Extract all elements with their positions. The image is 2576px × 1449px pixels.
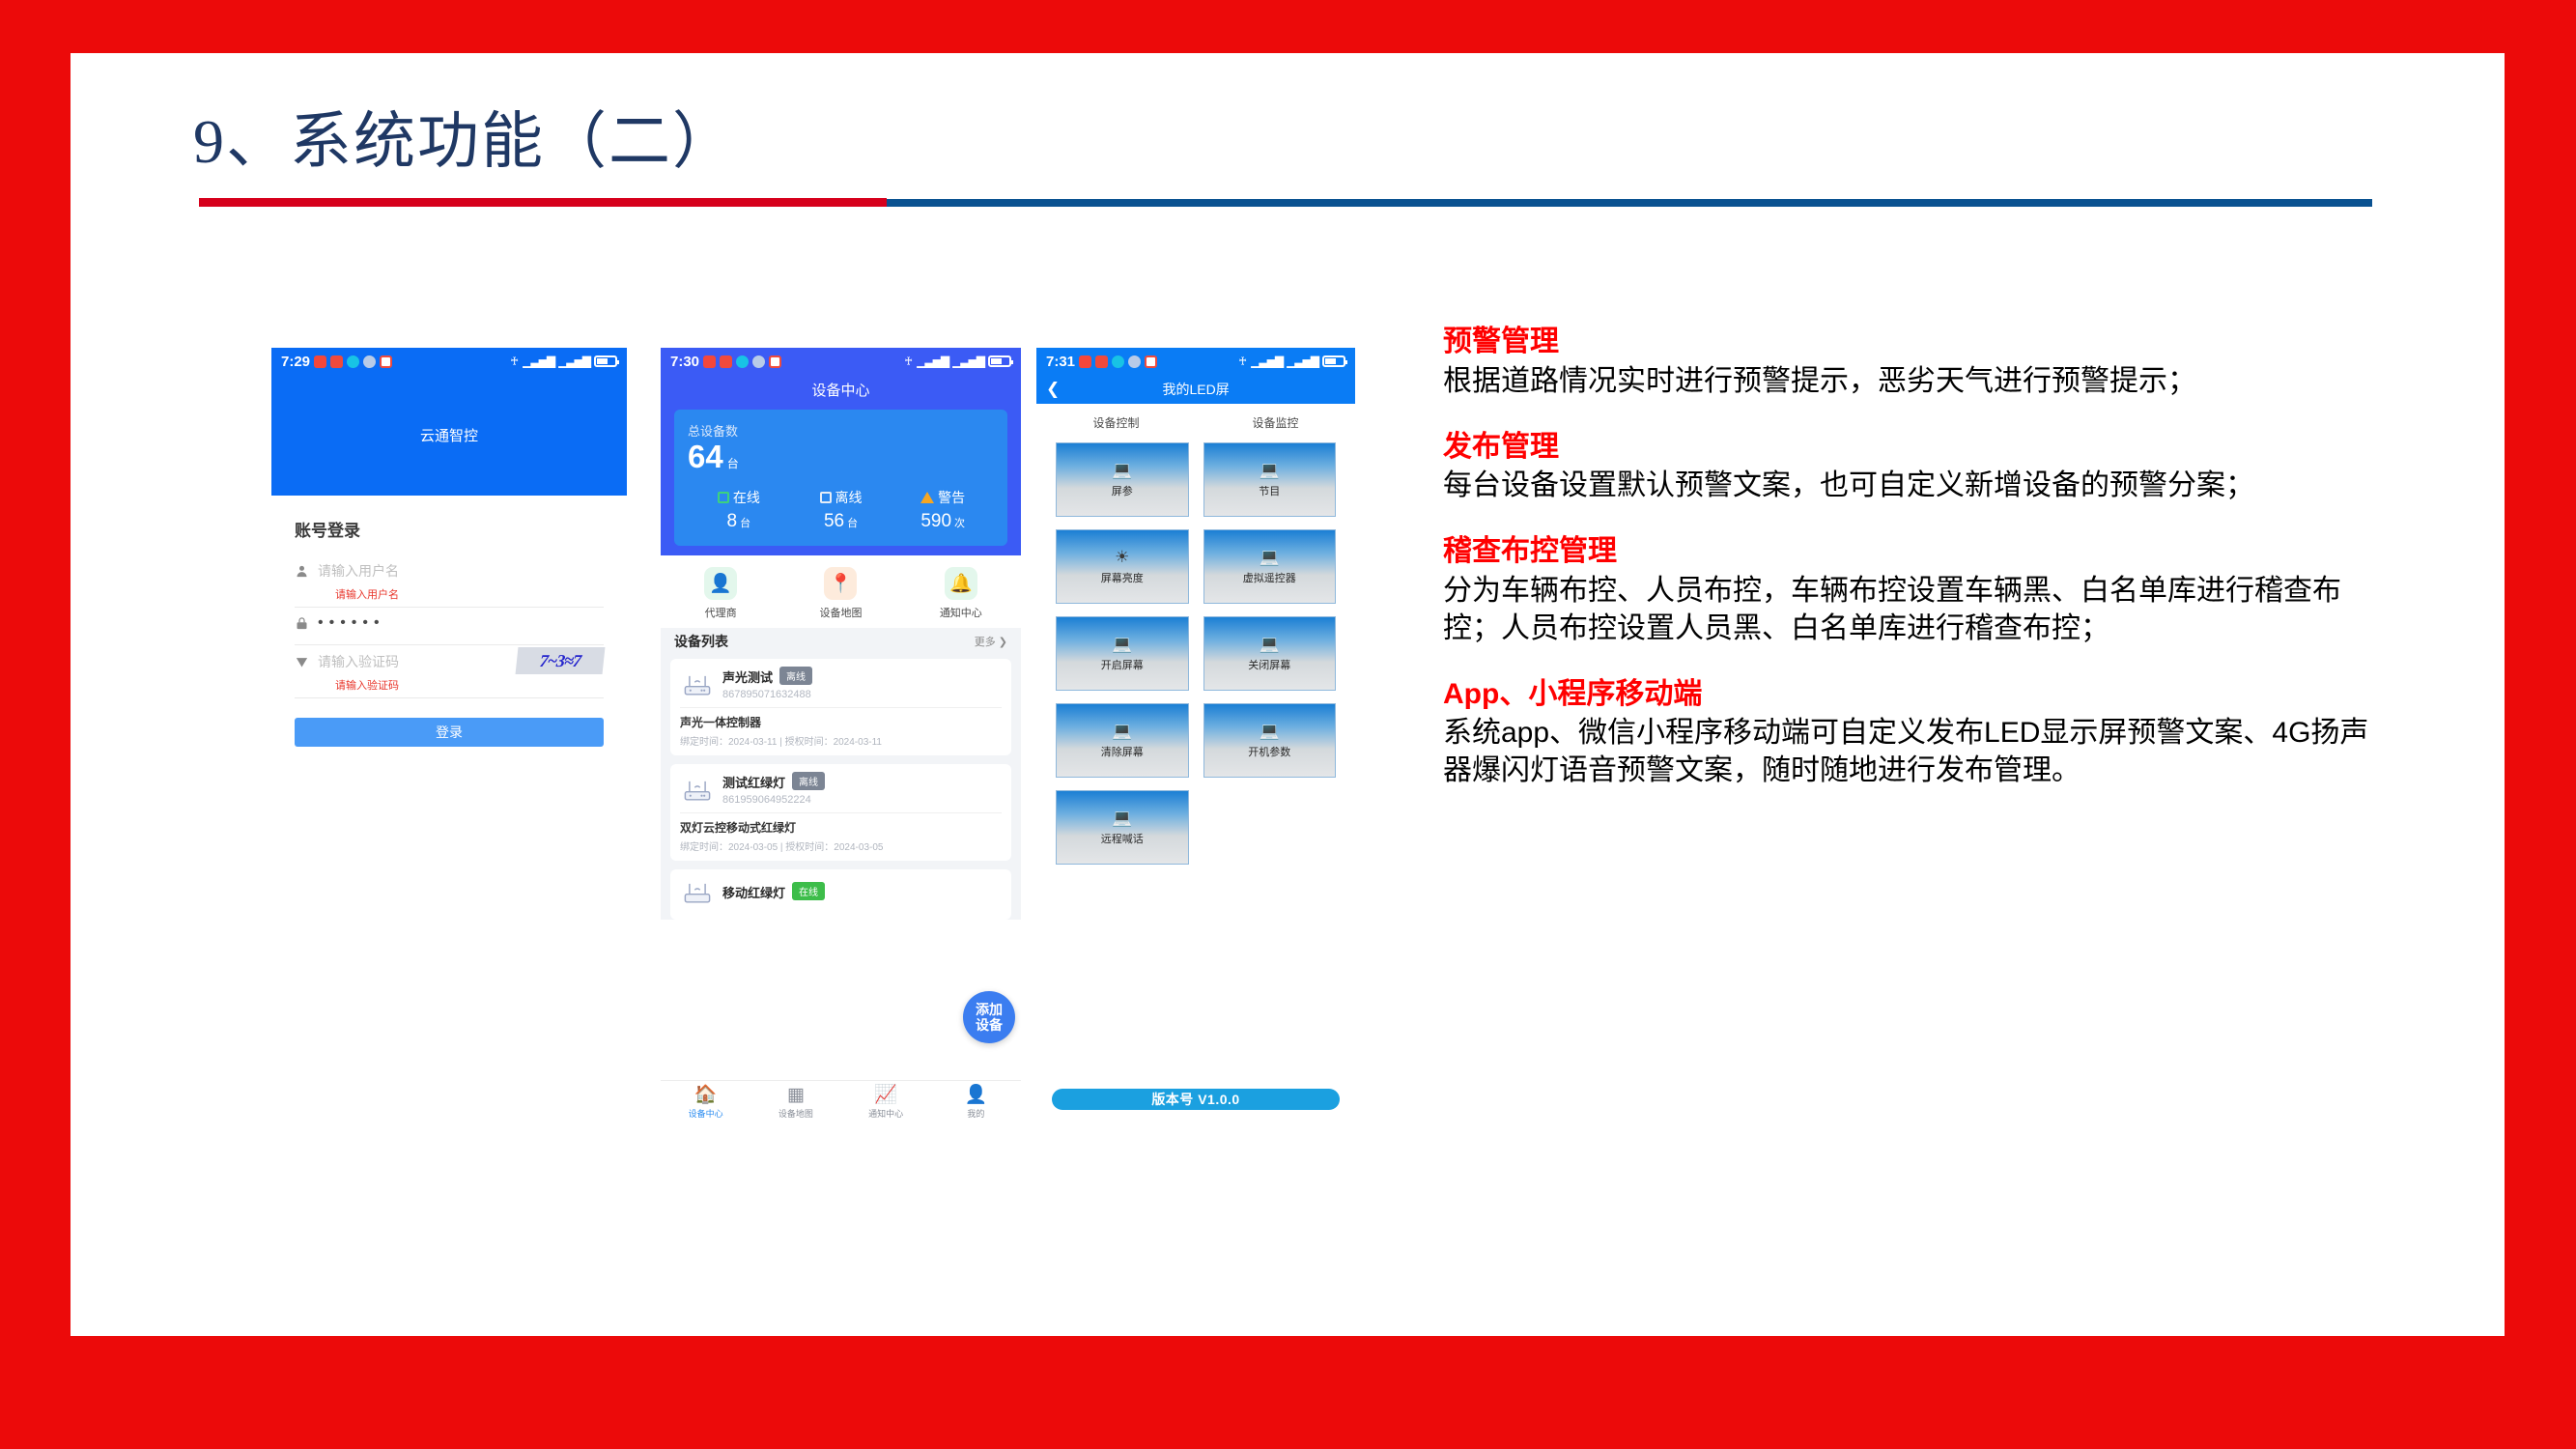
quick-map[interactable]: 📍 设备地图 [780, 567, 900, 620]
monitor-icon: 💻 [1260, 636, 1280, 652]
title-underline-red [199, 198, 887, 207]
tab-label: 我的 [931, 1107, 1021, 1120]
device-id: 861959064952224 [722, 794, 825, 806]
tab-label: 设备地图 [750, 1107, 840, 1120]
stat-label: 离线 [835, 488, 863, 507]
stat-value: 8 [727, 511, 738, 531]
status-badge: 在线 [792, 882, 825, 900]
content-block-warning-management: 预警管理 根据道路情况实时进行预警提示，恶劣天气进行预警提示； [1443, 324, 2380, 400]
nfc-icon: ♰ [1238, 355, 1247, 368]
x-square-icon [820, 492, 832, 503]
map-grid-icon: ▦ [750, 1086, 840, 1104]
router-icon [680, 775, 715, 804]
warning-triangle-icon [920, 492, 934, 503]
quick-notify[interactable]: 🔔 通知中心 [901, 567, 1021, 620]
brand-hero: 云通智控 [271, 375, 627, 496]
fab-line-1: 添加 [976, 1002, 1003, 1017]
status-bar-3: 7:31 ♰ ▁▃▅▇ ▁▃▅▇ [1036, 348, 1355, 375]
device-model: 声光一体控制器 [680, 714, 1002, 730]
login-heading: 账号登录 [295, 517, 604, 541]
tab-device-map[interactable]: ▦ 设备地图 [750, 1086, 840, 1120]
status-bar: 7:29 ♰ ▁▃▅▇ ▁▃▅▇ [271, 348, 627, 375]
status-time: 7:29 [281, 354, 310, 370]
content-column: 预警管理 根据道路情况实时进行预警提示，恶劣天气进行预警提示； 发布管理 每台设… [1443, 324, 2380, 818]
home-icon: 🏠 [661, 1086, 750, 1104]
tile-screen-on[interactable]: 💻 开启屏幕 [1056, 616, 1189, 691]
stat-value: 590 [920, 511, 951, 531]
block-body: 系统app、微信小程序移动端可自定义发布LED显示屏预警文案、4G扬声器爆闪灯语… [1443, 714, 2380, 789]
tile-clear-screen[interactable]: 💻 清除屏幕 [1056, 703, 1189, 778]
stat-value: 56 [824, 511, 844, 531]
app-icon-2 [752, 355, 765, 368]
screen-title: 设备中心 [661, 375, 1021, 410]
device-meta: 绑定时间：2024-03-05 | 授权时间：2024-03-05 [680, 838, 1002, 853]
signal-icon: ▁▃▅▇ [1251, 355, 1283, 368]
bottom-tab-bar: 🏠 设备中心 ▦ 设备地图 📈 通知中心 👤 我的 [661, 1080, 1021, 1124]
total-devices-unit: 台 [727, 457, 739, 470]
app-icon-2 [363, 355, 376, 368]
monitor-icon: 💻 [1260, 462, 1280, 478]
stat-unit: 台 [847, 518, 858, 529]
device-model: 双灯云控移动式红绿灯 [680, 819, 1002, 836]
router-icon [680, 669, 715, 698]
person-icon [295, 564, 309, 579]
password-value: •••••• [318, 614, 385, 632]
device-name: 移动红绿灯 [722, 886, 785, 900]
app-icon-2 [1128, 355, 1141, 368]
battery-icon [1322, 355, 1345, 367]
tile-screen-off[interactable]: 💻 关闭屏幕 [1203, 616, 1337, 691]
tab-profile[interactable]: 👤 我的 [931, 1086, 1021, 1120]
fab-line-2: 设备 [976, 1017, 1003, 1033]
block-heading: App、小程序移动端 [1443, 676, 2380, 713]
device-row[interactable]: 声光测试离线 867895071632488 声光一体控制器 绑定时间：2024… [670, 659, 1011, 755]
monitor-icon: 💻 [1112, 462, 1132, 478]
message-icon [1095, 355, 1108, 368]
nfc-icon: ♰ [510, 355, 519, 368]
user-icon: 👤 [931, 1086, 1021, 1104]
tile-label: 关闭屏幕 [1248, 657, 1290, 672]
device-name: 测试红绿灯 [722, 776, 785, 790]
notification-icon [314, 355, 326, 368]
device-list-title: 设备列表 [674, 632, 728, 651]
status-time: 7:31 [1046, 354, 1075, 370]
captcha-image[interactable]: 7~3≈7 [516, 647, 606, 674]
tile-label: 屏参 [1112, 483, 1133, 498]
monitor-icon: 💻 [1112, 810, 1132, 826]
signal-icon: ▁▃▅▇ [523, 355, 554, 368]
notification-icon [703, 355, 716, 368]
chart-bell-icon: 📈 [841, 1086, 931, 1104]
device-meta: 绑定时间：2024-03-11 | 授权时间：2024-03-11 [680, 733, 1002, 748]
monitor-icon: 💻 [1112, 636, 1132, 652]
battery-icon [594, 355, 617, 367]
username-placeholder: 请输入用户名 [318, 561, 399, 581]
tile-boot-params[interactable]: 💻 开机参数 [1203, 703, 1337, 778]
captcha-field[interactable]: 请输入验证码 7~3≈7 [295, 645, 604, 675]
tab-label: 通知中心 [841, 1107, 931, 1120]
signal-icon-2: ▁▃▅▇ [952, 355, 984, 368]
message-icon [330, 355, 343, 368]
status-badge: 离线 [779, 667, 812, 685]
device-row[interactable]: 测试红绿灯离线 861959064952224 双灯云控移动式红绿灯 绑定时间：… [670, 764, 1011, 861]
device-list-more[interactable]: 更多 ❯ [975, 634, 1007, 649]
nfc-icon: ♰ [904, 355, 913, 368]
tab-notification-center[interactable]: 📈 通知中心 [841, 1086, 931, 1120]
phone-mockup-login: 7:29 ♰ ▁▃▅▇ ▁▃▅▇ 云通智控 账号登录 请输入用户名 请输入用户名 [271, 348, 627, 808]
app-icon-3 [769, 355, 781, 368]
page-title: 9、系统功能（二） [193, 92, 736, 181]
device-row[interactable]: 移动红绿灯在线 [670, 869, 1011, 920]
divider-3 [295, 697, 604, 698]
stat-label: 警告 [938, 488, 965, 507]
phone-mockup-device-center: 7:30 ♰ ▁▃▅▇ ▁▃▅▇ 设备中心 总设备数 64台 在线 [661, 348, 1021, 1124]
tile-label: 清除屏幕 [1101, 744, 1144, 759]
stat-warning[interactable]: 警告 590次 [892, 488, 994, 532]
username-field[interactable]: 请输入用户名 [295, 554, 604, 584]
shield-icon [295, 655, 309, 669]
lock-icon [295, 616, 309, 631]
block-heading: 预警管理 [1443, 324, 2380, 360]
signal-icon: ▁▃▅▇ [917, 355, 948, 368]
password-field[interactable]: •••••• [295, 608, 604, 636]
stat-unit: 次 [954, 518, 965, 529]
app-icon-3 [1145, 355, 1157, 368]
notification-icon [1079, 355, 1091, 368]
map-pin-icon: 📍 [824, 567, 857, 600]
signal-icon-2: ▁▃▅▇ [1287, 355, 1318, 368]
signal-icon-2: ▁▃▅▇ [558, 355, 590, 368]
quick-label: 设备地图 [780, 605, 900, 620]
monitor-icon: 💻 [1260, 723, 1280, 739]
stat-unit: 台 [740, 518, 750, 529]
content-block-publish-management: 发布管理 每台设备设置默认预警文案，也可自定义新增设备的预警分案； [1443, 429, 2380, 505]
tile-screen-params[interactable]: 💻 屏参 [1056, 442, 1189, 517]
quick-agent[interactable]: 👤 代理商 [661, 567, 780, 620]
device-summary-card: 总设备数 64台 在线 8台 离线 56台 警告 590次 [674, 410, 1007, 546]
captcha-placeholder: 请输入验证码 [318, 652, 399, 671]
brand-name: 云通智控 [420, 425, 478, 445]
stat-offline[interactable]: 离线 56台 [790, 488, 892, 532]
device-list: 声光测试离线 867895071632488 声光一体控制器 绑定时间：2024… [661, 659, 1021, 920]
username-error: 请输入用户名 [295, 584, 604, 607]
app-icon [347, 355, 359, 368]
app-icon-3 [380, 355, 392, 368]
battery-icon [988, 355, 1011, 367]
message-icon [720, 355, 732, 368]
column-headers: 设备控制 设备监控 [1036, 404, 1355, 442]
monitor-icon: 💻 [1260, 549, 1280, 565]
tile-remote-shout[interactable]: 💻 远程喊话 [1056, 790, 1189, 865]
block-body: 根据道路情况实时进行预警提示，恶劣天气进行预警提示； [1443, 362, 2380, 400]
stat-label: 在线 [733, 488, 760, 507]
title-underline-blue [887, 199, 2372, 207]
status-time: 7:30 [670, 354, 699, 370]
bell-icon: 🔔 [945, 567, 977, 600]
nav-bar: ❮ 我的LED屏 [1036, 375, 1355, 404]
tile-label: 开启屏幕 [1101, 657, 1144, 672]
block-body: 每台设备设置默认预警文案，也可自定义新增设备的预警分案； [1443, 467, 2380, 504]
captcha-error: 请输入验证码 [295, 675, 604, 697]
summary-label: 总设备数 [688, 421, 994, 440]
brightness-icon: ☀ [1115, 549, 1129, 565]
tile-label: 屏幕亮度 [1101, 570, 1144, 585]
block-heading: 稽查布控管理 [1443, 533, 2380, 570]
device-list-header: 设备列表 更多 ❯ [661, 628, 1021, 659]
status-bar-2: 7:30 ♰ ▁▃▅▇ ▁▃▅▇ [661, 348, 1021, 375]
tile-label: 开机参数 [1248, 744, 1290, 759]
app-icon [736, 355, 749, 368]
status-badge: 离线 [792, 772, 825, 790]
login-button[interactable]: 登录 [295, 718, 604, 747]
quick-label: 通知中心 [901, 605, 1021, 620]
phone-mockup-led-screen: 7:31 ♰ ▁▃▅▇ ▁▃▅▇ ❮ 我的LED屏 设备控制 设备监控 💻 屏参… [1036, 348, 1355, 1125]
monitor-icon: 💻 [1112, 723, 1132, 739]
stat-online[interactable]: 在线 8台 [688, 488, 790, 532]
screen-title: 我的LED屏 [1046, 380, 1345, 399]
agent-icon: 👤 [704, 567, 737, 600]
router-icon [680, 877, 715, 906]
column-header-monitor: 设备监控 [1196, 414, 1355, 431]
quick-label: 代理商 [661, 605, 780, 620]
tile-label: 远程喊话 [1101, 831, 1144, 846]
tile-brightness[interactable]: ☀ 屏幕亮度 [1056, 529, 1189, 604]
check-square-icon [718, 492, 729, 503]
tile-virtual-remote[interactable]: 💻 虚拟遥控器 [1203, 529, 1337, 604]
content-block-app-miniprogram: App、小程序移动端 系统app、微信小程序移动端可自定义发布LED显示屏预警文… [1443, 676, 2380, 790]
add-device-button[interactable]: 添加 设备 [963, 991, 1015, 1043]
device-id: 867895071632488 [722, 689, 812, 700]
block-body: 分为车辆布控、人员布控，车辆布控设置车辆黑、白名单库进行稽查布控；人员布控设置人… [1443, 572, 2380, 647]
tile-program[interactable]: 💻 节目 [1203, 442, 1337, 517]
content-block-inspection-management: 稽查布控管理 分为车辆布控、人员布控，车辆布控设置车辆黑、白名单库进行稽查布控；… [1443, 533, 2380, 647]
app-icon [1112, 355, 1124, 368]
tab-label: 设备中心 [661, 1107, 750, 1120]
device-name: 声光测试 [722, 670, 773, 685]
column-header-control: 设备控制 [1036, 414, 1196, 431]
function-tile-grid: 💻 屏参 💻 节目 ☀ 屏幕亮度 💻 虚拟遥控器 💻 开启屏幕 💻 关闭屏幕 💻… [1036, 442, 1355, 865]
total-devices-value: 64 [688, 439, 723, 474]
tab-device-center[interactable]: 🏠 设备中心 [661, 1086, 750, 1120]
block-heading: 发布管理 [1443, 429, 2380, 466]
tile-label: 节目 [1259, 483, 1280, 498]
version-badge: 版本号 V1.0.0 [1052, 1089, 1340, 1110]
tile-label: 虚拟遥控器 [1243, 570, 1296, 585]
